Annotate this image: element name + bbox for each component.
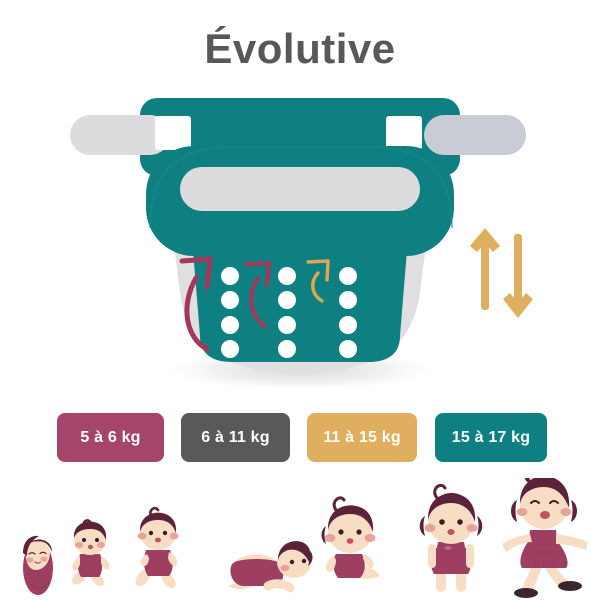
weight-badge-row: 5 à 6 kg 6 à 11 kg 11 à 15 kg 15 à 17 kg	[0, 413, 600, 465]
belt-hole-dot	[339, 291, 357, 309]
weight-badge-label: 5 à 6 kg	[80, 429, 140, 447]
weight-badge-label: 15 à 17 kg	[452, 429, 531, 447]
child-dancing-figure	[502, 478, 588, 598]
belt-hole-dot	[339, 267, 357, 285]
baby-sitting-figure	[72, 520, 110, 586]
harness-slot	[180, 167, 420, 211]
belt-hole-dot	[339, 316, 357, 334]
belt-hole-dot	[278, 267, 296, 285]
baby-swaddled-figure	[23, 536, 53, 595]
headrest-notch-left	[155, 116, 191, 150]
belt-hole-dot	[278, 340, 296, 358]
toddler-standing-figure	[420, 485, 483, 592]
baby-crawling-figure	[228, 541, 313, 589]
weight-badge-label: 11 à 15 kg	[323, 429, 401, 447]
weight-badge-5-6[interactable]: 5 à 6 kg	[57, 413, 164, 462]
headrest-notch-right	[386, 116, 422, 150]
page-title: Évolutive	[0, 26, 600, 72]
evolutive-infographic: Évolutive	[0, 0, 600, 600]
belt-hole-dot	[221, 316, 239, 334]
weight-badge-15-17[interactable]: 15 à 17 kg	[435, 413, 547, 462]
belt-hole-dot	[221, 267, 239, 285]
height-adjust-arrows	[462, 222, 552, 327]
belt-hole-dot	[221, 340, 239, 358]
weight-badge-11-15[interactable]: 11 à 15 kg	[307, 413, 417, 462]
belt-hole-dot	[339, 340, 357, 358]
belt-hole-dot	[221, 291, 239, 309]
baby-reaching-figure	[135, 508, 178, 588]
growth-stage-row	[0, 478, 600, 600]
weight-badge-label: 6 à 11 kg	[201, 429, 270, 447]
belt-hole-dot	[278, 316, 296, 334]
weight-badge-6-11[interactable]: 6 à 11 kg	[181, 413, 290, 462]
side-pad-right	[424, 115, 526, 155]
arrow-down-icon	[503, 234, 533, 318]
baby-sitting-up-figure	[322, 498, 381, 579]
arrow-up-icon	[470, 228, 500, 310]
belt-hole-dot	[278, 291, 296, 309]
